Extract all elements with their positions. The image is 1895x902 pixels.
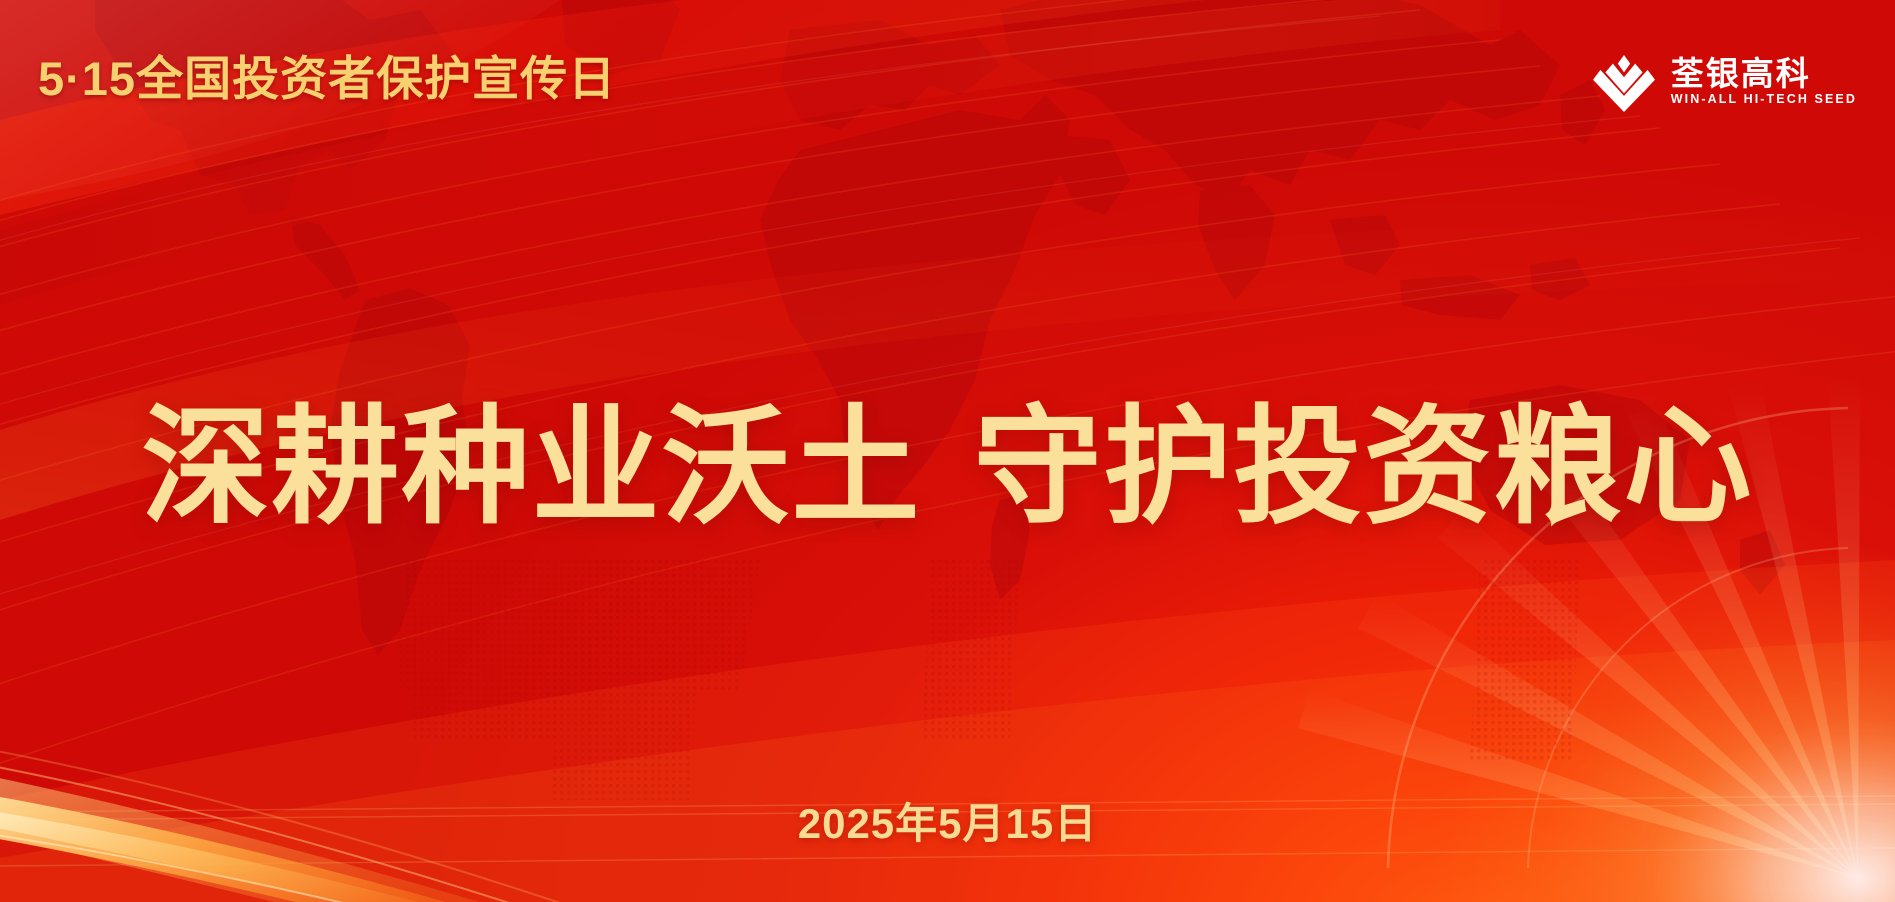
- event-date: 2025年5月15日: [0, 803, 1895, 845]
- campaign-label: 5·15全国投资者保护宣传日: [38, 55, 616, 102]
- investor-protection-banner: 5·15全国投资者保护宣传日 荃银高科 WIN-ALL HI-TECH SEED…: [0, 0, 1895, 902]
- company-logo: 荃银高科 WIN-ALL HI-TECH SEED: [1593, 48, 1857, 114]
- main-slogan-part1: 深耕种业沃土: [141, 396, 921, 539]
- company-name-en: WIN-ALL HI-TECH SEED: [1671, 93, 1857, 106]
- main-slogan-part2: 守护投资粮心: [974, 396, 1754, 539]
- logo-text-block: 荃银高科 WIN-ALL HI-TECH SEED: [1671, 57, 1857, 106]
- win-all-chevron-logo-icon: [1593, 50, 1655, 112]
- company-name-cn: 荃银高科: [1671, 57, 1857, 90]
- main-slogan: 深耕种业沃土守护投资粮心: [0, 404, 1895, 532]
